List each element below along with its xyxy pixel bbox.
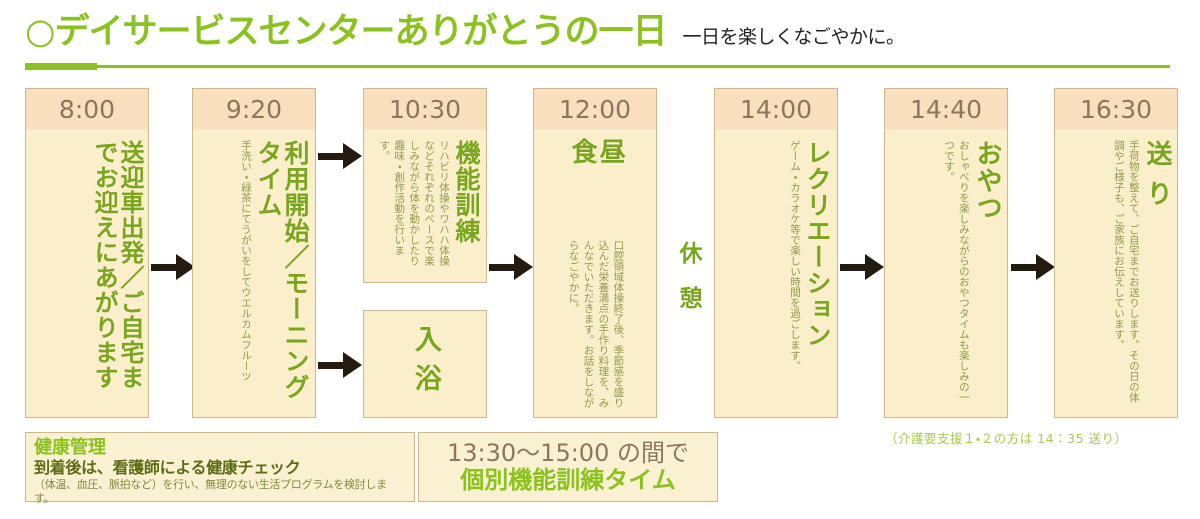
card-body: 機能訓練 リハビリ体操やワハハ体操などそれぞれのペースで楽しみながら体を動かした… [364,130,486,282]
schedule-subcard-bath[interactable]: 入浴 [363,310,487,418]
arrow-right-icon [1011,254,1055,280]
time-label: 8:00 [59,95,115,124]
card-body: おやつ おしゃべりを楽しみながらのおやつタイムも楽しみの一つです。 [885,130,1007,417]
card-time-header: 16:30 [1055,89,1177,130]
rest-line-1: 休 [672,232,712,277]
arrow-head [865,254,884,280]
activity-headword: 機能訓練 [453,140,480,244]
activity-description: 手洗い・緑茶にてうがいをしてウエルカムフルーツ [238,140,253,382]
arrow-right-icon [840,254,884,280]
time-label: 12:00 [559,95,631,124]
arrow-right-icon [151,254,195,280]
card-body: 送り 手荷物を整えて、ご自宅までお送りします。その日の体調やご様子も、ご家族にお… [1055,130,1177,417]
arrow-head [514,254,533,280]
rest-line-2: 憩 [672,277,712,322]
card-time-header: 14:40 [885,89,1007,130]
arrow-right-icon [318,352,362,378]
arrow-head [1036,254,1055,280]
note-health-management: 健康管理 到着後は、看護師による健康チェック （体温、血圧、脈拍など）を行い、無… [25,432,415,502]
arrow-shaft [151,264,179,271]
note-health-heading: 健康管理 [34,437,406,458]
note-footnote: （介護要支援１・２の方は 14：35 送り） [885,428,1175,447]
time-label: 14:40 [910,95,982,124]
time-label: 9:20 [226,95,282,124]
arrow-shaft [318,362,346,369]
note-individual-training: 13:30〜15:00 の間で 個別機能訓練タイム [418,432,718,502]
arrow-right-icon [489,254,533,280]
card-time-header: 9:20 [193,89,315,130]
schedule-card-1440[interactable]: 14:40 おやつ おしゃべりを楽しみながらのおやつタイムも楽しみの一つです。 [884,88,1008,418]
note-health-line2: 到着後は、看護師による健康チェック [34,458,406,478]
activity-description: 手荷物を整えて、ご自宅までお送りします。その日の体調やご様子も、ご家族にお伝えし… [1111,140,1141,411]
schedule-card-1400[interactable]: 14:00 レクリエーション ゲーム・カラオケ等で楽しい時間を過ごします。 [714,88,838,418]
activity-description: リハビリ体操やワハハ体操などそれぞれのペースで楽しみながら体を動かしたり趣味・創… [376,140,451,276]
schedule-card-1200[interactable]: 12:00 昼食 口腔領域体操終了後、季節感を盛り込んだ栄養満点の手作り料理を、… [533,88,657,418]
arrow-shaft [1011,264,1039,271]
arrow-shaft [840,264,868,271]
arrow-head [343,143,362,169]
activity-headword: おやつ [973,140,1001,221]
arrow-shaft [489,264,517,271]
page-title: ○デイサービスセンターありがとうの一日 [25,12,667,52]
header-rule-thin [95,65,1170,68]
card-time-header: 10:30 [364,89,486,130]
activity-description: ゲーム・カラオケ等で楽しい時間を過ごします。 [787,140,802,371]
rest-label: 休 憩 [672,232,712,322]
time-label: 14:00 [740,95,812,124]
activity-headword: 入浴 [410,325,440,403]
card-body: 送迎車出発／ご自宅までお迎えにあがります [26,130,148,417]
arrow-shaft [318,153,346,160]
activity-headword: 送り [1143,140,1171,220]
card-time-header: 8:00 [26,89,148,130]
page-subtitle: 一日を楽しくなごやかに。 [683,22,905,49]
header-rule-thick [25,63,97,70]
time-label: 10:30 [389,95,461,124]
activity-headword: レクリエーション [804,140,831,348]
card-body: 利用開始／モーニングタイム 手洗い・緑茶にてうがいをしてウエルカムフルーツ [193,130,315,417]
activity-description: おしゃべりを楽しみながらのおやつタイムも楽しみの一つです。 [941,140,971,411]
schedule-card-0920[interactable]: 9:20 利用開始／モーニングタイム 手洗い・緑茶にてうがいをしてウエルカムフル… [192,88,316,418]
header: ○デイサービスセンターありがとうの一日 一日を楽しくなごやかに。 [25,8,1175,52]
activity-headword: 昼食 [568,138,624,230]
card-time-header: 14:00 [715,89,837,130]
arrow-head [343,352,362,378]
activity-headword: 利用開始／モーニングタイム [255,140,309,411]
card-body: 昼食 口腔領域体操終了後、季節感を盛り込んだ栄養満点の手作り料理を、みんなでいた… [534,130,656,417]
note-health-line3: （体温、血圧、脈拍など）を行い、無理のない生活プログラムを検討します。 [34,478,406,506]
note-training-line2: 個別機能訓練タイム [460,467,676,494]
schedule-card-1030[interactable]: 10:30 機能訓練 リハビリ体操やワハハ体操などそれぞれのペースで楽しみながら… [363,88,487,283]
arrow-right-icon [318,143,362,169]
card-body: レクリエーション ゲーム・カラオケ等で楽しい時間を過ごします。 [715,130,837,417]
note-training-line1: 13:30〜15:00 の間で [447,441,689,467]
card-time-header: 12:00 [534,89,656,130]
activity-description: 口腔領域体操終了後、季節感を盛り込んだ栄養満点の手作り料理を、みんなでいただきま… [566,240,626,410]
infographic-canvas: ○デイサービスセンターありがとうの一日 一日を楽しくなごやかに。 8:00 送迎… [0,0,1200,519]
activity-headword: 送迎車出発／ご自宅までお迎えにあがります [90,140,142,411]
time-label: 16:30 [1080,95,1152,124]
schedule-card-0800[interactable]: 8:00 送迎車出発／ご自宅までお迎えにあがります [25,88,149,418]
schedule-card-1630[interactable]: 16:30 送り 手荷物を整えて、ご自宅までお送りします。その日の体調やご様子も… [1054,88,1178,418]
